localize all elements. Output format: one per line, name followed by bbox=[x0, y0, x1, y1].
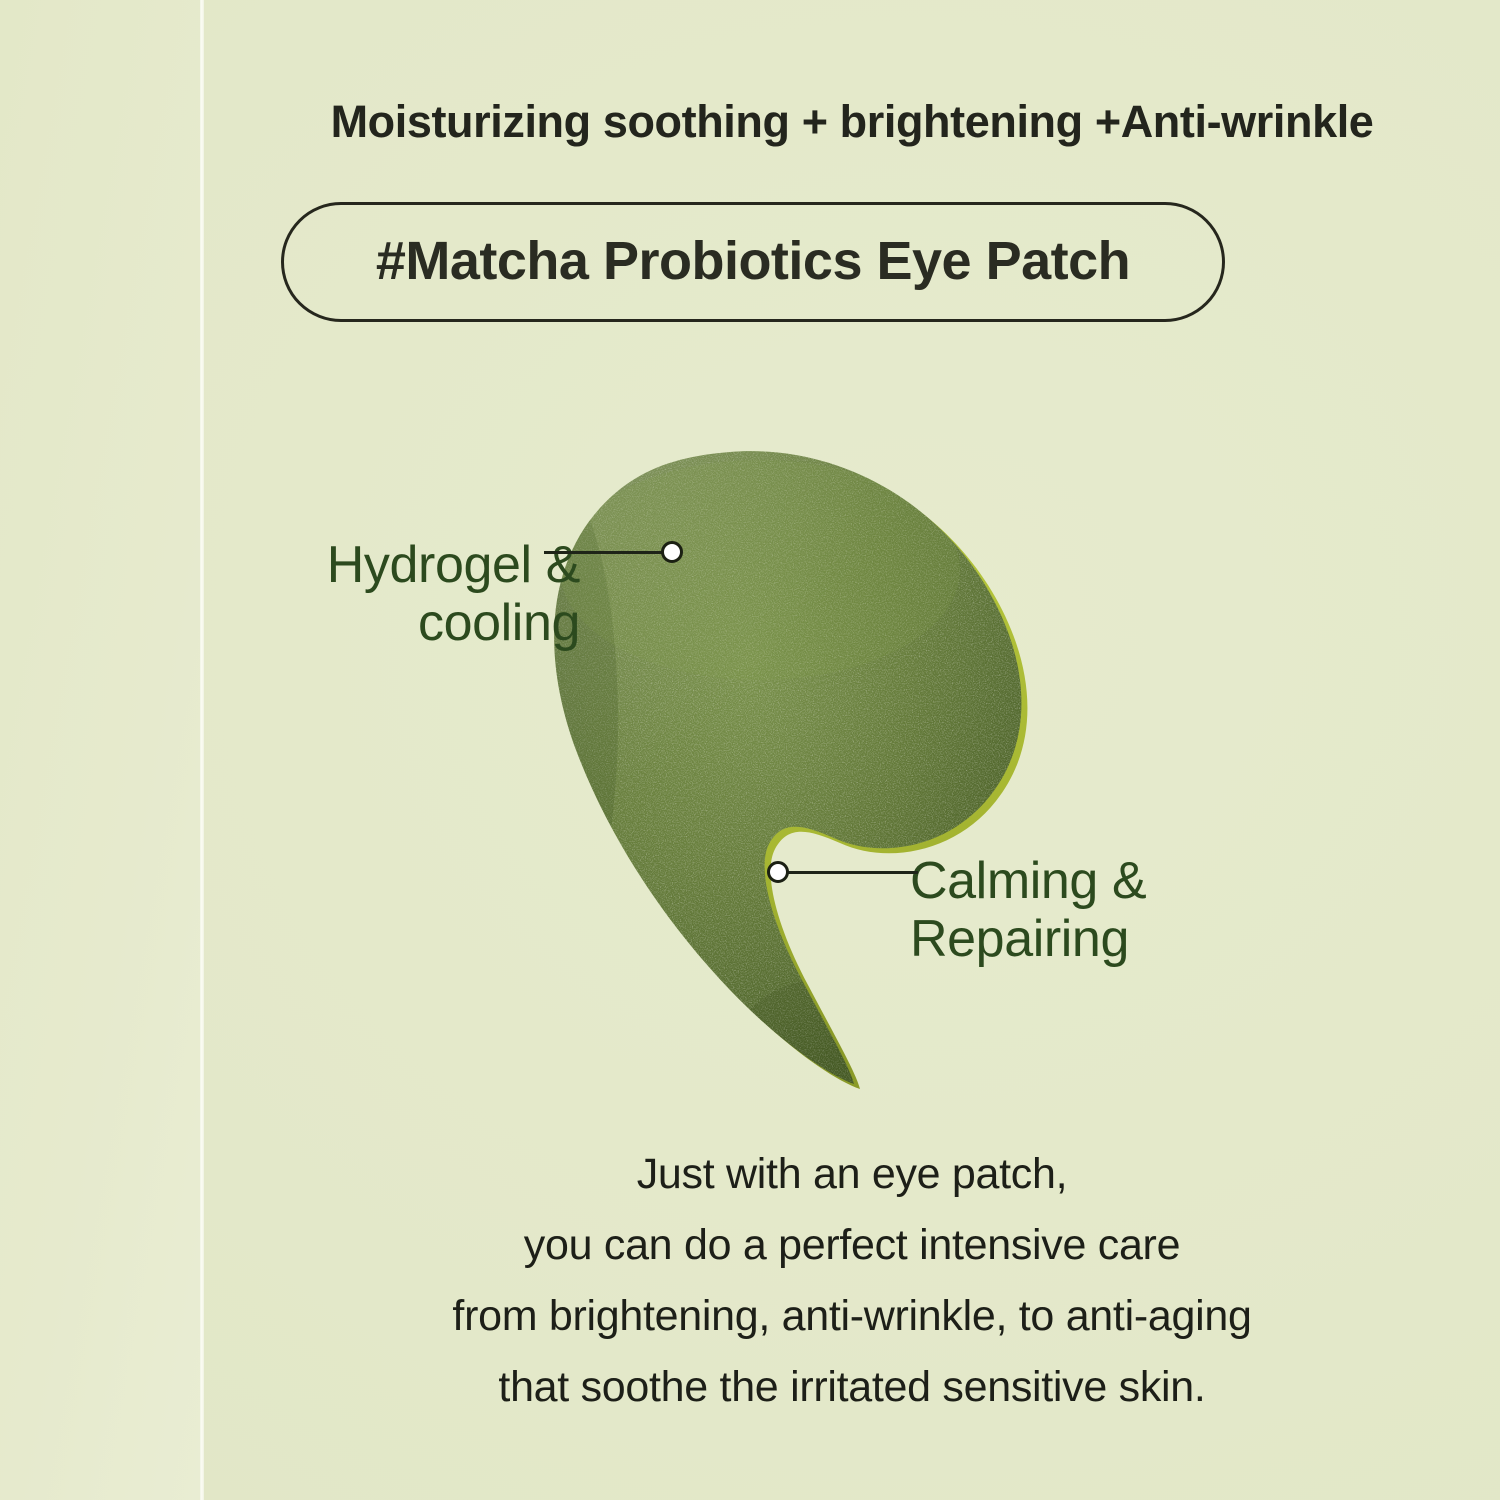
description-line: from brightening, anti-wrinkle, to anti-… bbox=[204, 1292, 1500, 1341]
callout-line: Repairing bbox=[910, 910, 1330, 968]
callout-dot-icon bbox=[767, 861, 789, 883]
leader-line-icon bbox=[778, 871, 918, 874]
description-line: that soothe the irritated sensitive skin… bbox=[204, 1363, 1500, 1412]
leader-line-icon bbox=[544, 551, 672, 554]
product-title-pill: #Matcha Probiotics Eye Patch bbox=[281, 202, 1225, 322]
product-description: Just with an eye patch, you can do a per… bbox=[204, 1150, 1500, 1412]
description-line: you can do a perfect intensive care bbox=[204, 1221, 1500, 1270]
callout-line: Hydrogel & bbox=[180, 536, 580, 594]
background-left-panel bbox=[0, 0, 200, 1500]
eye-patch-illustration bbox=[430, 420, 1090, 1120]
callout-dot-icon bbox=[661, 541, 683, 563]
description-line: Just with an eye patch, bbox=[204, 1150, 1500, 1199]
callout-calming-repairing: Calming & Repairing bbox=[910, 852, 1330, 968]
product-title-label: #Matcha Probiotics Eye Patch bbox=[376, 230, 1130, 292]
tagline-headline: Moisturizing soothing + brightening +Ant… bbox=[204, 96, 1500, 148]
callout-line: Calming & bbox=[910, 852, 1330, 910]
eye-patch-shape-icon bbox=[430, 420, 1090, 1120]
callout-hydrogel-cooling: Hydrogel & cooling bbox=[180, 536, 580, 652]
callout-line: cooling bbox=[180, 594, 580, 652]
product-infographic: Moisturizing soothing + brightening +Ant… bbox=[0, 0, 1500, 1500]
